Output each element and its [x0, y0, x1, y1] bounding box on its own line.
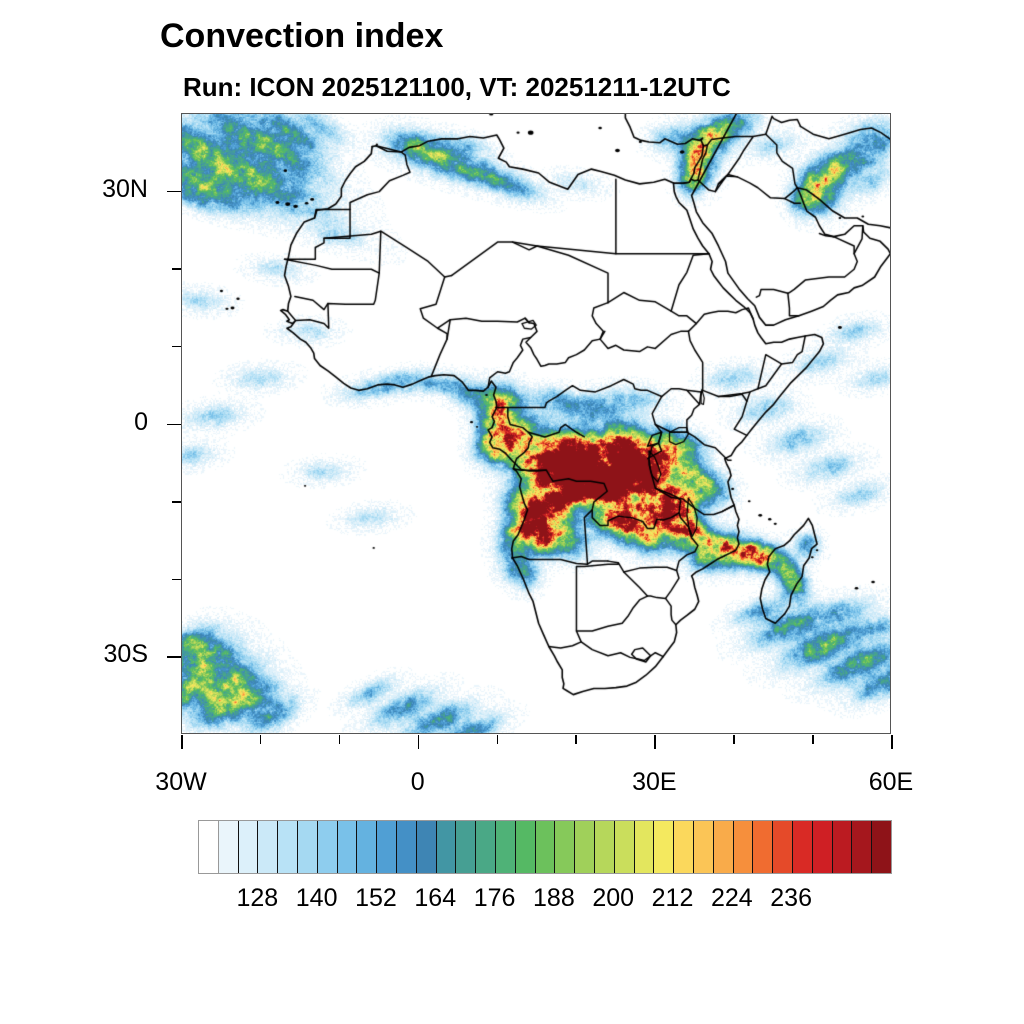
convection-index-figure: Convection index Run: ICON 2025121100, V… [0, 0, 1024, 1024]
x-tick-30 [654, 735, 656, 749]
x-tick-0 [418, 735, 420, 749]
colorbar-band-17 [536, 821, 556, 873]
colorbar-band-16 [516, 821, 536, 873]
y-axis-label-30S: 30S [28, 640, 148, 669]
x-tick-50 [812, 735, 814, 744]
figure-subtitle: Run: ICON 2025121100, VT: 20251211-12UTC [183, 72, 731, 103]
x-tick--30 [181, 735, 183, 749]
colorbar-band-31 [813, 821, 833, 873]
convection-index-raster [182, 114, 891, 734]
colorbar-band-15 [496, 821, 516, 873]
colorbar-band-20 [595, 821, 615, 873]
colorbar-band-7 [338, 821, 358, 873]
colorbar-band-0 [199, 821, 219, 873]
x-tick-20 [575, 735, 577, 744]
colorbar-band-19 [575, 821, 595, 873]
page-title: Convection index [160, 17, 443, 56]
colorbar-band-29 [773, 821, 793, 873]
x-tick--10 [339, 735, 341, 744]
colorbar-band-10 [397, 821, 417, 873]
colorbar-band-14 [476, 821, 496, 873]
colorbar-band-28 [753, 821, 773, 873]
colorbar-band-12 [437, 821, 457, 873]
y-tick-0 [167, 424, 181, 426]
x-tick-10 [497, 735, 499, 744]
y-tick--10 [172, 501, 181, 503]
y-tick-30 [167, 191, 181, 193]
y-tick--20 [172, 579, 181, 581]
colorbar-band-18 [555, 821, 575, 873]
y-axis-label-30N: 30N [28, 175, 148, 204]
colorbar-band-27 [734, 821, 754, 873]
colorbar-band-34 [872, 821, 891, 873]
y-tick-10 [172, 346, 181, 348]
colorbar-label-236: 236 [746, 884, 836, 913]
colorbar [198, 820, 892, 874]
y-tick--30 [167, 656, 181, 658]
map-plot-area [181, 113, 891, 734]
colorbar-band-26 [714, 821, 734, 873]
x-tick-40 [733, 735, 735, 744]
x-axis-label-30W: 30W [121, 768, 241, 797]
colorbar-band-5 [298, 821, 318, 873]
colorbar-band-13 [456, 821, 476, 873]
colorbar-band-1 [219, 821, 239, 873]
colorbar-band-3 [258, 821, 278, 873]
colorbar-band-32 [833, 821, 853, 873]
colorbar-band-23 [654, 821, 674, 873]
colorbar-band-4 [278, 821, 298, 873]
y-tick-20 [172, 268, 181, 270]
colorbar-band-11 [417, 821, 437, 873]
x-tick--20 [260, 735, 262, 744]
y-axis-label-0: 0 [28, 408, 148, 437]
colorbar-band-8 [357, 821, 377, 873]
colorbar-band-21 [615, 821, 635, 873]
colorbar-band-33 [852, 821, 872, 873]
colorbar-band-9 [377, 821, 397, 873]
colorbar-band-22 [635, 821, 655, 873]
x-tick-60 [891, 735, 893, 749]
x-axis-label-30E: 30E [594, 768, 714, 797]
colorbar-band-24 [674, 821, 694, 873]
x-axis-label-0: 0 [358, 768, 478, 797]
colorbar-band-30 [793, 821, 813, 873]
colorbar-band-6 [318, 821, 338, 873]
x-axis-label-60E: 60E [831, 768, 951, 797]
colorbar-band-25 [694, 821, 714, 873]
colorbar-band-2 [239, 821, 259, 873]
